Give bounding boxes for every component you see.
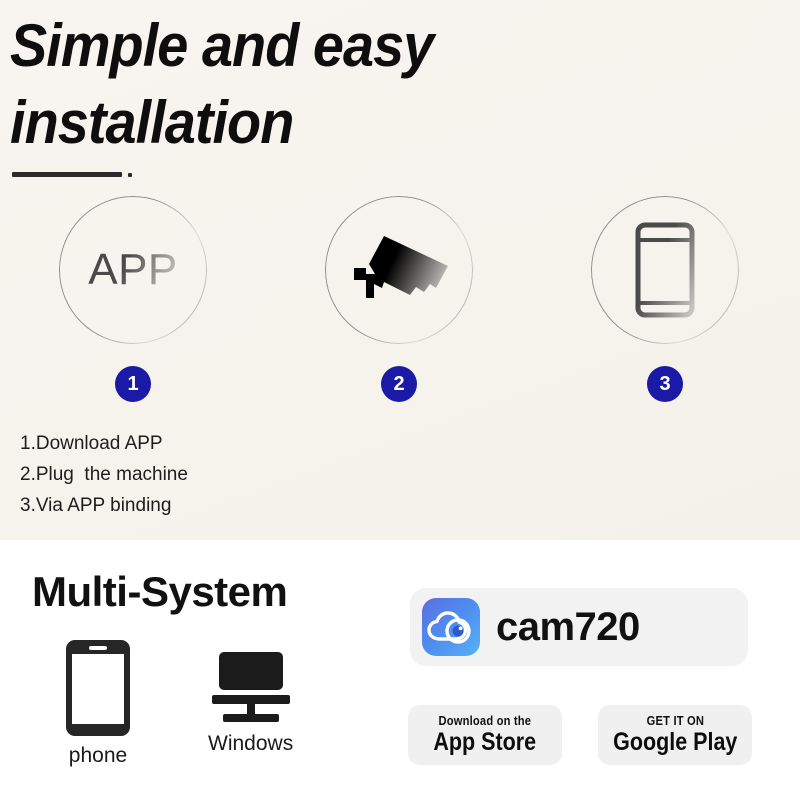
- app-name: cam720: [496, 605, 640, 650]
- platform-phone-label: phone: [69, 744, 127, 768]
- title-divider: [12, 172, 132, 177]
- instruction-list: 1.Download APP 2.Plug the machine 3.Via …: [20, 428, 188, 521]
- app-store-big-label: App Store: [434, 729, 537, 757]
- platform-windows-label: Windows: [208, 732, 293, 756]
- google-play-small-label: GET IT ON: [646, 713, 703, 728]
- monitor-stem: [247, 704, 255, 714]
- steps-row: APP 1 2 3: [0, 196, 800, 402]
- phone-speaker: [89, 646, 107, 650]
- step-3-badge: 3: [647, 366, 683, 402]
- step-2-plug-machine: 2: [266, 196, 532, 402]
- multi-system-title: Multi-System: [32, 568, 287, 616]
- step-2-badge: 2: [381, 366, 417, 402]
- instruction-item-3: 3.Via APP binding: [20, 490, 188, 521]
- monitor-bar: [212, 695, 290, 704]
- smartphone-icon: [66, 640, 130, 736]
- google-play-big-label: Google Play: [613, 729, 737, 757]
- step-3-circle: [591, 196, 739, 344]
- monitor-icon: [212, 652, 290, 724]
- installation-section: Simple and easy installation APP 1 2: [0, 0, 800, 540]
- divider-bar: [12, 172, 122, 177]
- google-play-badge[interactable]: GET IT ON Google Play: [598, 705, 752, 765]
- platform-windows: Windows: [208, 652, 293, 756]
- page-title: Simple and easy installation: [10, 8, 587, 162]
- smartphone-outline-icon: [634, 221, 696, 319]
- multi-system-section: Multi-System phone Windows cam720 Dow: [0, 540, 800, 800]
- monitor-base: [223, 714, 279, 722]
- step-1-download-app: APP 1: [0, 196, 266, 402]
- app-store-small-label: Download on the: [439, 713, 532, 728]
- cloud-camera-glyph: [422, 598, 480, 656]
- app-text-icon: APP: [88, 245, 178, 295]
- cctv-camera-icon: [344, 230, 454, 310]
- cloud-camera-app-icon: [422, 598, 480, 656]
- step-2-circle: [325, 196, 473, 344]
- phone-screen: [72, 654, 124, 724]
- divider-dot: [128, 173, 132, 177]
- step-1-badge: 1: [115, 366, 151, 402]
- app-brand-panel: cam720: [410, 588, 748, 666]
- app-store-badge[interactable]: Download on the App Store: [408, 705, 562, 765]
- instruction-item-2: 2.Plug the machine: [20, 459, 188, 490]
- instruction-item-1: 1.Download APP: [20, 428, 188, 459]
- step-1-circle: APP: [59, 196, 207, 344]
- platform-phone: phone: [66, 640, 130, 768]
- step-3-via-app-binding: 3: [532, 196, 798, 402]
- monitor-screen: [219, 652, 283, 690]
